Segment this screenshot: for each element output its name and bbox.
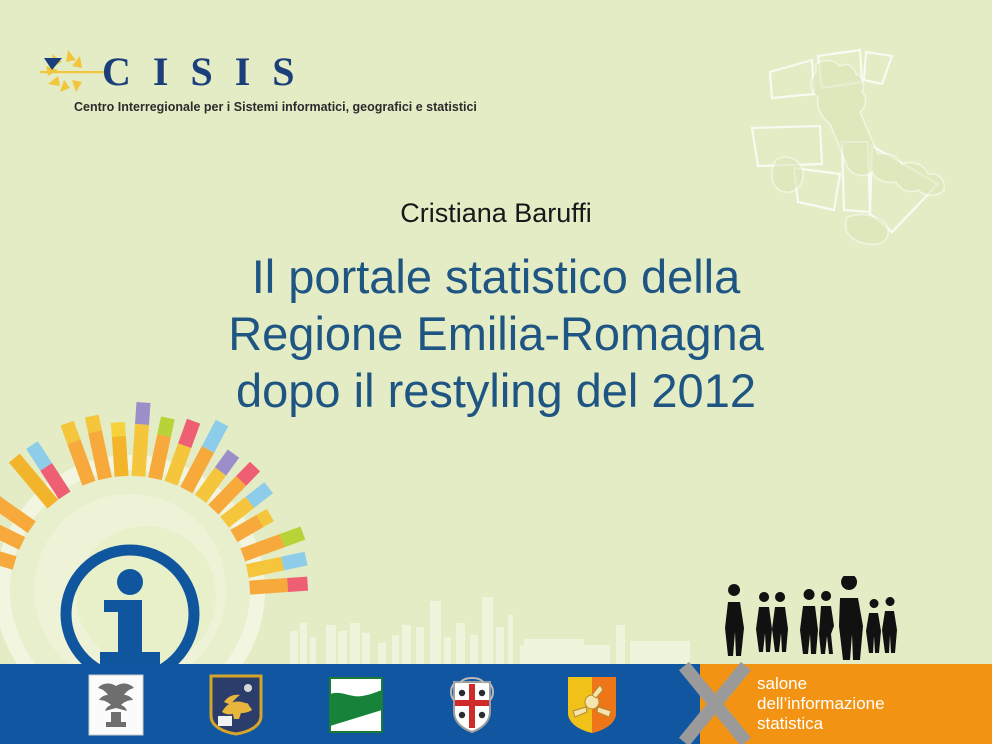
cisis-tagline: Centro Interregionale per i Sistemi info…: [74, 100, 477, 114]
author-name: Cristiana Baruffi: [0, 198, 992, 229]
cisis-sunburst-icon: [38, 46, 110, 100]
title-line-2: Regione Emilia-Romagna: [96, 305, 896, 362]
trinacria-emblem: [564, 674, 620, 736]
green-white-emblem: [328, 674, 384, 736]
eagle-emblem: [88, 674, 144, 736]
salone-x-icon: [672, 658, 758, 744]
cisis-wordmark: C I S I S: [102, 48, 301, 95]
title-line-1: Il portale statistico della: [96, 248, 896, 305]
salone-line-2: dell’informazione: [757, 694, 885, 714]
salone-line-3: statistica: [757, 714, 885, 734]
statistics-sunburst-graphic: [0, 400, 460, 700]
four-moors-cross-emblem: [444, 674, 500, 736]
winged-lion-emblem: [208, 674, 264, 736]
page-title: Il portale statistico della Regione Emil…: [96, 248, 896, 419]
cisis-logo: C I S I S Centro Interregionale per i Si…: [38, 46, 478, 122]
salone-branding: salone dell’informazione statistica: [757, 674, 885, 734]
people-silhouettes-graphic: [714, 576, 914, 666]
italy-map-watermark: [742, 42, 982, 262]
presentation-slide: C I S I S Centro Interregionale per i Si…: [0, 0, 992, 744]
salone-line-1: salone: [757, 674, 885, 694]
